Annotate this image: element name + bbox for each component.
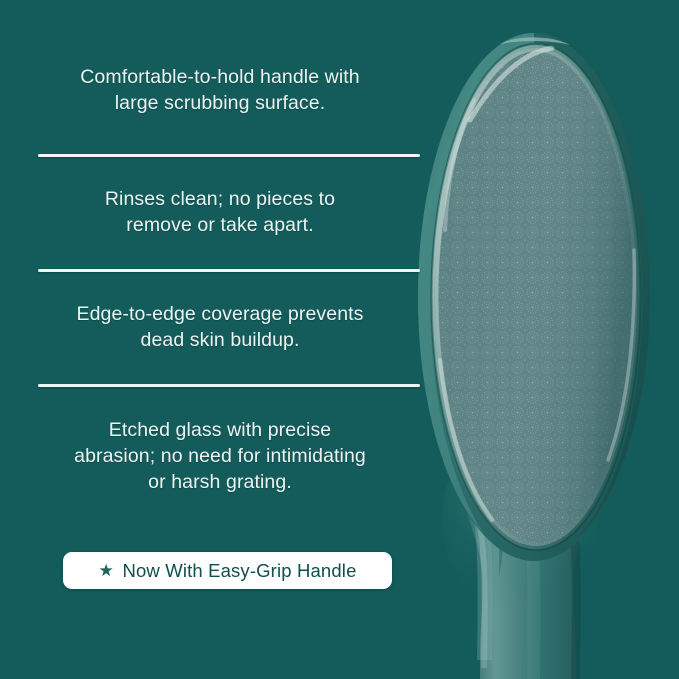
feature-text-1: Comfortable-to-hold handle with large sc… [30,64,410,116]
easy-grip-badge: ★ Now With Easy-Grip Handle [63,552,392,589]
feature-line: abrasion; no need for intimidating [30,443,410,469]
feature-line: Edge-to-edge coverage prevents [30,301,410,327]
product-handle [442,425,612,679]
product-head [418,33,650,561]
feature-line: Rinses clean; no pieces to [30,186,410,212]
feature-line: large scrubbing surface. [30,90,410,116]
feature-text-4: Etched glass with precise abrasion; no n… [30,417,410,495]
feature-line: dead skin buildup. [30,327,410,353]
feature-text-2: Rinses clean; no pieces to remove or tak… [30,186,410,238]
feature-divider-3 [38,384,420,387]
star-icon: ★ [98,562,113,577]
promo-canvas: Comfortable-to-hold handle with large sc… [0,0,679,679]
feature-line: Comfortable-to-hold handle with [30,64,410,90]
feature-text-3: Edge-to-edge coverage prevents dead skin… [30,301,410,353]
feature-divider-2 [38,269,420,272]
feature-line: remove or take apart. [30,212,410,238]
badge-label: Now With Easy-Grip Handle [122,560,356,582]
feature-line: or harsh grating. [30,469,410,495]
feature-line: Etched glass with precise [30,417,410,443]
feature-divider-1 [38,154,420,157]
